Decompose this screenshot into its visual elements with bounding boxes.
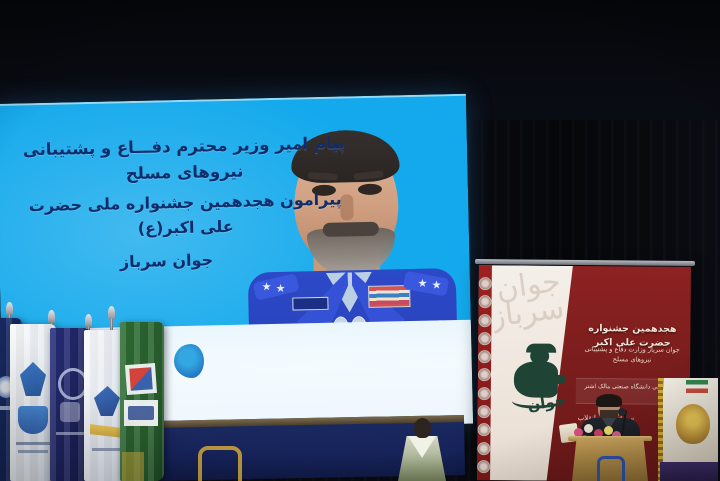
flag-cluster <box>0 300 204 481</box>
iran-flag-icon <box>686 380 708 393</box>
stage-apron-logo-icon <box>198 446 242 481</box>
microphone-icon <box>618 408 626 416</box>
person-at-left-podium <box>392 418 452 481</box>
sponsor-logo-icon <box>478 332 491 345</box>
ceremonial-flag-emblem-icon <box>676 404 710 444</box>
conference-hall-photo: پیام امیر وزیر محترم دفـــاع و پشتیبانی … <box>0 0 720 481</box>
slide-text-block: پیام امیر وزیر محترم دفـــاع و پشتیبانی … <box>19 130 352 277</box>
sponsor-logo-icon <box>478 314 491 327</box>
sponsor-logo-icon <box>479 295 492 308</box>
sponsor-logo-icon <box>477 423 490 436</box>
sponsor-logo-icon <box>477 442 490 455</box>
sponsor-logo-icon <box>478 405 491 418</box>
slide-line-1: پیام امیر وزیر محترم دفـــاع و پشتیبانی … <box>19 130 350 188</box>
banner-sponsor-logos <box>475 277 494 473</box>
podium-logo-icon <box>597 456 625 481</box>
officer-nameplate <box>292 297 328 311</box>
speaker-hair <box>596 394 622 407</box>
banner-word-namaz: نماز <box>530 378 554 392</box>
flag-green <box>120 322 164 481</box>
sponsor-logo-icon <box>479 277 492 290</box>
slide-line-2: پیرامون هجدهمین جشنواره ملی حضرت علی اکب… <box>20 187 351 244</box>
sponsor-logo-icon <box>478 350 491 363</box>
sponsor-logo-icon <box>478 369 491 382</box>
ceremonial-flag-lower-band <box>660 462 718 481</box>
officer-ribbon-bar <box>368 285 410 308</box>
sponsor-logo-icon <box>478 387 491 400</box>
sponsor-logo-icon <box>477 460 490 473</box>
banner-subtitle: جوان سرباز وزارت دفاع و پشتیبانی نیروهای… <box>578 344 686 366</box>
